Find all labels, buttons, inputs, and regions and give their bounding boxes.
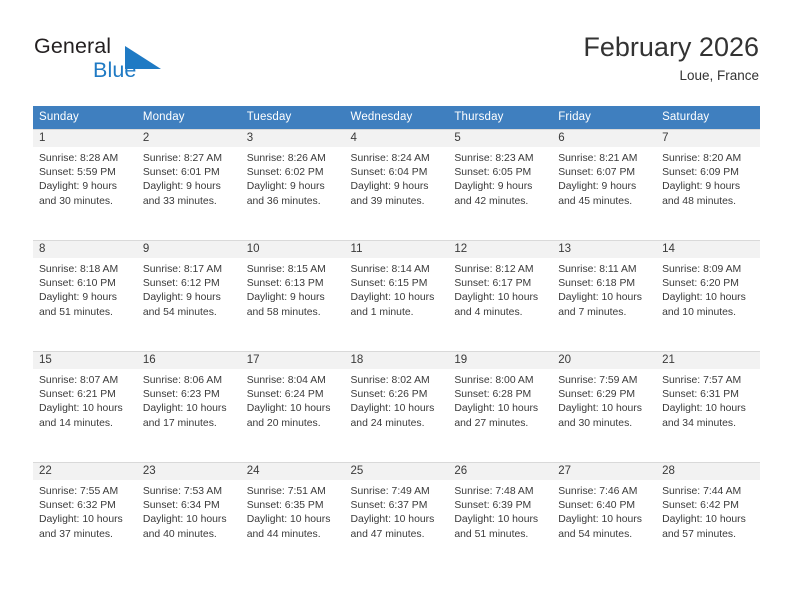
sunset-text: Sunset: 6:12 PM [143, 277, 237, 291]
day-number: 15 [33, 352, 137, 369]
sunrise-text: Sunrise: 7:53 AM [143, 485, 237, 499]
day-details: Sunrise: 7:49 AM Sunset: 6:37 PM Dayligh… [345, 480, 449, 542]
sunrise-text: Sunrise: 8:18 AM [39, 263, 133, 277]
day-number: 18 [345, 352, 449, 369]
day-details: Sunrise: 8:12 AM Sunset: 6:17 PM Dayligh… [448, 258, 552, 320]
sunset-text: Sunset: 6:31 PM [662, 388, 756, 402]
daylight-line1: Daylight: 10 hours [662, 402, 756, 416]
sunrise-text: Sunrise: 8:11 AM [558, 263, 652, 277]
daylight-line2: and 27 minutes. [454, 417, 548, 431]
day-details: Sunrise: 8:06 AM Sunset: 6:23 PM Dayligh… [137, 369, 241, 431]
weekday-header-sunday: Sunday [33, 106, 137, 130]
day-details: Sunrise: 7:48 AM Sunset: 6:39 PM Dayligh… [448, 480, 552, 542]
day-cell[interactable]: 15 Sunrise: 8:07 AM Sunset: 6:21 PM Dayl… [33, 352, 137, 463]
weekday-header-saturday: Saturday [656, 106, 760, 130]
daylight-line2: and 7 minutes. [558, 306, 652, 320]
day-cell[interactable]: 16 Sunrise: 8:06 AM Sunset: 6:23 PM Dayl… [137, 352, 241, 463]
day-cell[interactable]: 12 Sunrise: 8:12 AM Sunset: 6:17 PM Dayl… [448, 241, 552, 352]
daylight-line1: Daylight: 9 hours [454, 180, 548, 194]
daylight-line1: Daylight: 10 hours [558, 513, 652, 527]
daylight-line1: Daylight: 9 hours [39, 180, 133, 194]
day-number: 17 [241, 352, 345, 369]
day-number: 19 [448, 352, 552, 369]
day-number: 4 [345, 130, 449, 147]
day-number: 7 [656, 130, 760, 147]
daylight-line2: and 36 minutes. [247, 195, 341, 209]
day-cell[interactable]: 2 Sunrise: 8:27 AM Sunset: 6:01 PM Dayli… [137, 130, 241, 241]
day-number: 28 [656, 463, 760, 480]
daylight-line2: and 30 minutes. [558, 417, 652, 431]
daylight-line2: and 10 minutes. [662, 306, 756, 320]
daylight-line2: and 51 minutes. [454, 528, 548, 542]
daylight-line1: Daylight: 10 hours [454, 513, 548, 527]
sunrise-text: Sunrise: 8:23 AM [454, 152, 548, 166]
day-details: Sunrise: 7:46 AM Sunset: 6:40 PM Dayligh… [552, 480, 656, 542]
sunrise-text: Sunrise: 8:07 AM [39, 374, 133, 388]
weekday-header-tuesday: Tuesday [241, 106, 345, 130]
daylight-line1: Daylight: 10 hours [351, 402, 445, 416]
brand-name-blue: Blue [93, 58, 136, 83]
day-details: Sunrise: 8:28 AM Sunset: 5:59 PM Dayligh… [33, 147, 137, 209]
daylight-line2: and 45 minutes. [558, 195, 652, 209]
sunset-text: Sunset: 6:05 PM [454, 166, 548, 180]
sunset-text: Sunset: 6:10 PM [39, 277, 133, 291]
calendar-grid: Sunday Monday Tuesday Wednesday Thursday… [33, 106, 760, 573]
sunset-text: Sunset: 6:42 PM [662, 499, 756, 513]
day-number: 16 [137, 352, 241, 369]
day-cell[interactable]: 23 Sunrise: 7:53 AM Sunset: 6:34 PM Dayl… [137, 463, 241, 574]
daylight-line1: Daylight: 10 hours [143, 513, 237, 527]
daylight-line2: and 54 minutes. [558, 528, 652, 542]
day-details: Sunrise: 8:23 AM Sunset: 6:05 PM Dayligh… [448, 147, 552, 209]
daylight-line1: Daylight: 9 hours [351, 180, 445, 194]
day-cell[interactable]: 17 Sunrise: 8:04 AM Sunset: 6:24 PM Dayl… [241, 352, 345, 463]
sunset-text: Sunset: 5:59 PM [39, 166, 133, 180]
day-details: Sunrise: 8:11 AM Sunset: 6:18 PM Dayligh… [552, 258, 656, 320]
sunrise-text: Sunrise: 8:27 AM [143, 152, 237, 166]
weekday-header-friday: Friday [552, 106, 656, 130]
day-details: Sunrise: 8:00 AM Sunset: 6:28 PM Dayligh… [448, 369, 552, 431]
sunrise-text: Sunrise: 7:51 AM [247, 485, 341, 499]
day-details: Sunrise: 8:14 AM Sunset: 6:15 PM Dayligh… [345, 258, 449, 320]
sunrise-text: Sunrise: 8:06 AM [143, 374, 237, 388]
daylight-line2: and 34 minutes. [662, 417, 756, 431]
day-cell[interactable]: 28 Sunrise: 7:44 AM Sunset: 6:42 PM Dayl… [656, 463, 760, 574]
day-number: 5 [448, 130, 552, 147]
daylight-line2: and 17 minutes. [143, 417, 237, 431]
sunrise-text: Sunrise: 8:14 AM [351, 263, 445, 277]
sunset-text: Sunset: 6:15 PM [351, 277, 445, 291]
daylight-line2: and 4 minutes. [454, 306, 548, 320]
day-cell[interactable]: 21 Sunrise: 7:57 AM Sunset: 6:31 PM Dayl… [656, 352, 760, 463]
day-number: 2 [137, 130, 241, 147]
daylight-line1: Daylight: 10 hours [143, 402, 237, 416]
day-cell[interactable]: 20 Sunrise: 7:59 AM Sunset: 6:29 PM Dayl… [552, 352, 656, 463]
sunset-text: Sunset: 6:28 PM [454, 388, 548, 402]
week-row: 8 Sunrise: 8:18 AM Sunset: 6:10 PM Dayli… [33, 241, 760, 352]
daylight-line2: and 58 minutes. [247, 306, 341, 320]
page-title: February 2026 [583, 30, 759, 64]
day-number: 8 [33, 241, 137, 258]
sunset-text: Sunset: 6:32 PM [39, 499, 133, 513]
day-number: 14 [656, 241, 760, 258]
daylight-line2: and 51 minutes. [39, 306, 133, 320]
calendar-page: General Blue February 2026 Loue, France … [0, 0, 792, 612]
day-details: Sunrise: 7:53 AM Sunset: 6:34 PM Dayligh… [137, 480, 241, 542]
day-cell[interactable]: 1 Sunrise: 8:28 AM Sunset: 5:59 PM Dayli… [33, 130, 137, 241]
daylight-line2: and 14 minutes. [39, 417, 133, 431]
day-details: Sunrise: 8:09 AM Sunset: 6:20 PM Dayligh… [656, 258, 760, 320]
day-cell[interactable]: 7 Sunrise: 8:20 AM Sunset: 6:09 PM Dayli… [656, 130, 760, 241]
day-number: 23 [137, 463, 241, 480]
day-cell[interactable]: 9 Sunrise: 8:17 AM Sunset: 6:12 PM Dayli… [137, 241, 241, 352]
day-cell[interactable]: 5 Sunrise: 8:23 AM Sunset: 6:05 PM Dayli… [448, 130, 552, 241]
daylight-line1: Daylight: 10 hours [662, 291, 756, 305]
sunset-text: Sunset: 6:20 PM [662, 277, 756, 291]
sunrise-text: Sunrise: 8:20 AM [662, 152, 756, 166]
sunset-text: Sunset: 6:34 PM [143, 499, 237, 513]
day-cell[interactable]: 19 Sunrise: 8:00 AM Sunset: 6:28 PM Dayl… [448, 352, 552, 463]
sunset-text: Sunset: 6:09 PM [662, 166, 756, 180]
sunset-text: Sunset: 6:13 PM [247, 277, 341, 291]
daylight-line2: and 47 minutes. [351, 528, 445, 542]
daylight-line1: Daylight: 10 hours [662, 513, 756, 527]
day-number: 20 [552, 352, 656, 369]
sunrise-text: Sunrise: 7:59 AM [558, 374, 652, 388]
day-number: 13 [552, 241, 656, 258]
day-cell[interactable]: 18 Sunrise: 8:02 AM Sunset: 6:26 PM Dayl… [345, 352, 449, 463]
day-details: Sunrise: 8:26 AM Sunset: 6:02 PM Dayligh… [241, 147, 345, 209]
daylight-line1: Daylight: 9 hours [143, 180, 237, 194]
location-subtitle: Loue, France [583, 66, 759, 86]
day-cell[interactable]: 13 Sunrise: 8:11 AM Sunset: 6:18 PM Dayl… [552, 241, 656, 352]
daylight-line1: Daylight: 10 hours [454, 291, 548, 305]
sunrise-text: Sunrise: 7:55 AM [39, 485, 133, 499]
daylight-line2: and 33 minutes. [143, 195, 237, 209]
sunrise-text: Sunrise: 7:46 AM [558, 485, 652, 499]
day-details: Sunrise: 8:18 AM Sunset: 6:10 PM Dayligh… [33, 258, 137, 320]
day-number: 12 [448, 241, 552, 258]
sunset-text: Sunset: 6:01 PM [143, 166, 237, 180]
weekday-header-wednesday: Wednesday [345, 106, 449, 130]
day-details: Sunrise: 7:55 AM Sunset: 6:32 PM Dayligh… [33, 480, 137, 542]
daylight-line1: Daylight: 9 hours [143, 291, 237, 305]
day-details: Sunrise: 8:21 AM Sunset: 6:07 PM Dayligh… [552, 147, 656, 209]
sunrise-text: Sunrise: 7:49 AM [351, 485, 445, 499]
day-cell[interactable]: 26 Sunrise: 7:48 AM Sunset: 6:39 PM Dayl… [448, 463, 552, 574]
day-cell[interactable]: 10 Sunrise: 8:15 AM Sunset: 6:13 PM Dayl… [241, 241, 345, 352]
day-cell[interactable]: 14 Sunrise: 8:09 AM Sunset: 6:20 PM Dayl… [656, 241, 760, 352]
day-number: 11 [345, 241, 449, 258]
day-details: Sunrise: 8:04 AM Sunset: 6:24 PM Dayligh… [241, 369, 345, 431]
sunset-text: Sunset: 6:29 PM [558, 388, 652, 402]
day-details: Sunrise: 7:44 AM Sunset: 6:42 PM Dayligh… [656, 480, 760, 542]
daylight-line2: and 20 minutes. [247, 417, 341, 431]
sunset-text: Sunset: 6:07 PM [558, 166, 652, 180]
sunrise-text: Sunrise: 8:15 AM [247, 263, 341, 277]
day-details: Sunrise: 7:51 AM Sunset: 6:35 PM Dayligh… [241, 480, 345, 542]
sunrise-text: Sunrise: 7:48 AM [454, 485, 548, 499]
sunrise-text: Sunrise: 8:28 AM [39, 152, 133, 166]
day-cell[interactable]: 4 Sunrise: 8:24 AM Sunset: 6:04 PM Dayli… [345, 130, 449, 241]
week-row: 22 Sunrise: 7:55 AM Sunset: 6:32 PM Dayl… [33, 463, 760, 574]
day-cell[interactable]: 24 Sunrise: 7:51 AM Sunset: 6:35 PM Dayl… [241, 463, 345, 574]
sunset-text: Sunset: 6:37 PM [351, 499, 445, 513]
day-cell[interactable]: 11 Sunrise: 8:14 AM Sunset: 6:15 PM Dayl… [345, 241, 449, 352]
daylight-line2: and 1 minute. [351, 306, 445, 320]
daylight-line1: Daylight: 10 hours [351, 513, 445, 527]
day-details: Sunrise: 8:24 AM Sunset: 6:04 PM Dayligh… [345, 147, 449, 209]
day-number: 3 [241, 130, 345, 147]
page-header: General Blue February 2026 Loue, France [33, 30, 759, 92]
day-cell[interactable]: 6 Sunrise: 8:21 AM Sunset: 6:07 PM Dayli… [552, 130, 656, 241]
daylight-line1: Daylight: 10 hours [454, 402, 548, 416]
daylight-line1: Daylight: 10 hours [558, 402, 652, 416]
sunset-text: Sunset: 6:40 PM [558, 499, 652, 513]
sunrise-text: Sunrise: 7:44 AM [662, 485, 756, 499]
day-details: Sunrise: 8:17 AM Sunset: 6:12 PM Dayligh… [137, 258, 241, 320]
brand-name-general: General [34, 34, 111, 59]
daylight-line2: and 48 minutes. [662, 195, 756, 209]
daylight-line2: and 54 minutes. [143, 306, 237, 320]
week-row: 15 Sunrise: 8:07 AM Sunset: 6:21 PM Dayl… [33, 352, 760, 463]
day-cell[interactable]: 8 Sunrise: 8:18 AM Sunset: 6:10 PM Dayli… [33, 241, 137, 352]
day-number: 27 [552, 463, 656, 480]
sunrise-text: Sunrise: 7:57 AM [662, 374, 756, 388]
daylight-line1: Daylight: 9 hours [247, 291, 341, 305]
daylight-line1: Daylight: 10 hours [39, 402, 133, 416]
day-details: Sunrise: 8:27 AM Sunset: 6:01 PM Dayligh… [137, 147, 241, 209]
sunrise-text: Sunrise: 8:24 AM [351, 152, 445, 166]
sunset-text: Sunset: 6:39 PM [454, 499, 548, 513]
day-details: Sunrise: 7:59 AM Sunset: 6:29 PM Dayligh… [552, 369, 656, 431]
daylight-line2: and 24 minutes. [351, 417, 445, 431]
daylight-line1: Daylight: 9 hours [39, 291, 133, 305]
daylight-line2: and 39 minutes. [351, 195, 445, 209]
title-block: February 2026 Loue, France [583, 30, 759, 86]
daylight-line2: and 44 minutes. [247, 528, 341, 542]
sunrise-text: Sunrise: 8:21 AM [558, 152, 652, 166]
sunset-text: Sunset: 6:35 PM [247, 499, 341, 513]
day-cell[interactable]: 27 Sunrise: 7:46 AM Sunset: 6:40 PM Dayl… [552, 463, 656, 574]
sunset-text: Sunset: 6:23 PM [143, 388, 237, 402]
daylight-line1: Daylight: 10 hours [39, 513, 133, 527]
sunrise-text: Sunrise: 8:17 AM [143, 263, 237, 277]
sunrise-text: Sunrise: 8:12 AM [454, 263, 548, 277]
day-cell[interactable]: 22 Sunrise: 7:55 AM Sunset: 6:32 PM Dayl… [33, 463, 137, 574]
brand-logo[interactable]: General Blue [33, 34, 273, 90]
daylight-line2: and 42 minutes. [454, 195, 548, 209]
sunrise-text: Sunrise: 8:09 AM [662, 263, 756, 277]
daylight-line2: and 57 minutes. [662, 528, 756, 542]
day-number: 26 [448, 463, 552, 480]
sunrise-text: Sunrise: 8:26 AM [247, 152, 341, 166]
day-number: 25 [345, 463, 449, 480]
sunrise-text: Sunrise: 8:04 AM [247, 374, 341, 388]
daylight-line1: Daylight: 10 hours [247, 402, 341, 416]
sunset-text: Sunset: 6:04 PM [351, 166, 445, 180]
weekday-header-thursday: Thursday [448, 106, 552, 130]
day-number: 9 [137, 241, 241, 258]
daylight-line1: Daylight: 9 hours [558, 180, 652, 194]
day-details: Sunrise: 8:02 AM Sunset: 6:26 PM Dayligh… [345, 369, 449, 431]
daylight-line2: and 37 minutes. [39, 528, 133, 542]
sunset-text: Sunset: 6:17 PM [454, 277, 548, 291]
daylight-line1: Daylight: 10 hours [247, 513, 341, 527]
daylight-line1: Daylight: 10 hours [558, 291, 652, 305]
day-number: 1 [33, 130, 137, 147]
day-number: 6 [552, 130, 656, 147]
day-number: 10 [241, 241, 345, 258]
day-details: Sunrise: 7:57 AM Sunset: 6:31 PM Dayligh… [656, 369, 760, 431]
day-details: Sunrise: 8:07 AM Sunset: 6:21 PM Dayligh… [33, 369, 137, 431]
day-cell[interactable]: 25 Sunrise: 7:49 AM Sunset: 6:37 PM Dayl… [345, 463, 449, 574]
day-details: Sunrise: 8:20 AM Sunset: 6:09 PM Dayligh… [656, 147, 760, 209]
sunset-text: Sunset: 6:24 PM [247, 388, 341, 402]
sunrise-text: Sunrise: 8:02 AM [351, 374, 445, 388]
day-number: 24 [241, 463, 345, 480]
sunset-text: Sunset: 6:21 PM [39, 388, 133, 402]
day-details: Sunrise: 8:15 AM Sunset: 6:13 PM Dayligh… [241, 258, 345, 320]
daylight-line2: and 30 minutes. [39, 195, 133, 209]
sunset-text: Sunset: 6:18 PM [558, 277, 652, 291]
day-number: 22 [33, 463, 137, 480]
week-row: 1 Sunrise: 8:28 AM Sunset: 5:59 PM Dayli… [33, 130, 760, 241]
weekday-header-row: Sunday Monday Tuesday Wednesday Thursday… [33, 106, 760, 130]
daylight-line1: Daylight: 9 hours [662, 180, 756, 194]
weekday-header-monday: Monday [137, 106, 241, 130]
day-number: 21 [656, 352, 760, 369]
daylight-line2: and 40 minutes. [143, 528, 237, 542]
sunrise-text: Sunrise: 8:00 AM [454, 374, 548, 388]
day-cell[interactable]: 3 Sunrise: 8:26 AM Sunset: 6:02 PM Dayli… [241, 130, 345, 241]
sunset-text: Sunset: 6:02 PM [247, 166, 341, 180]
daylight-line1: Daylight: 10 hours [351, 291, 445, 305]
daylight-line1: Daylight: 9 hours [247, 180, 341, 194]
sunset-text: Sunset: 6:26 PM [351, 388, 445, 402]
